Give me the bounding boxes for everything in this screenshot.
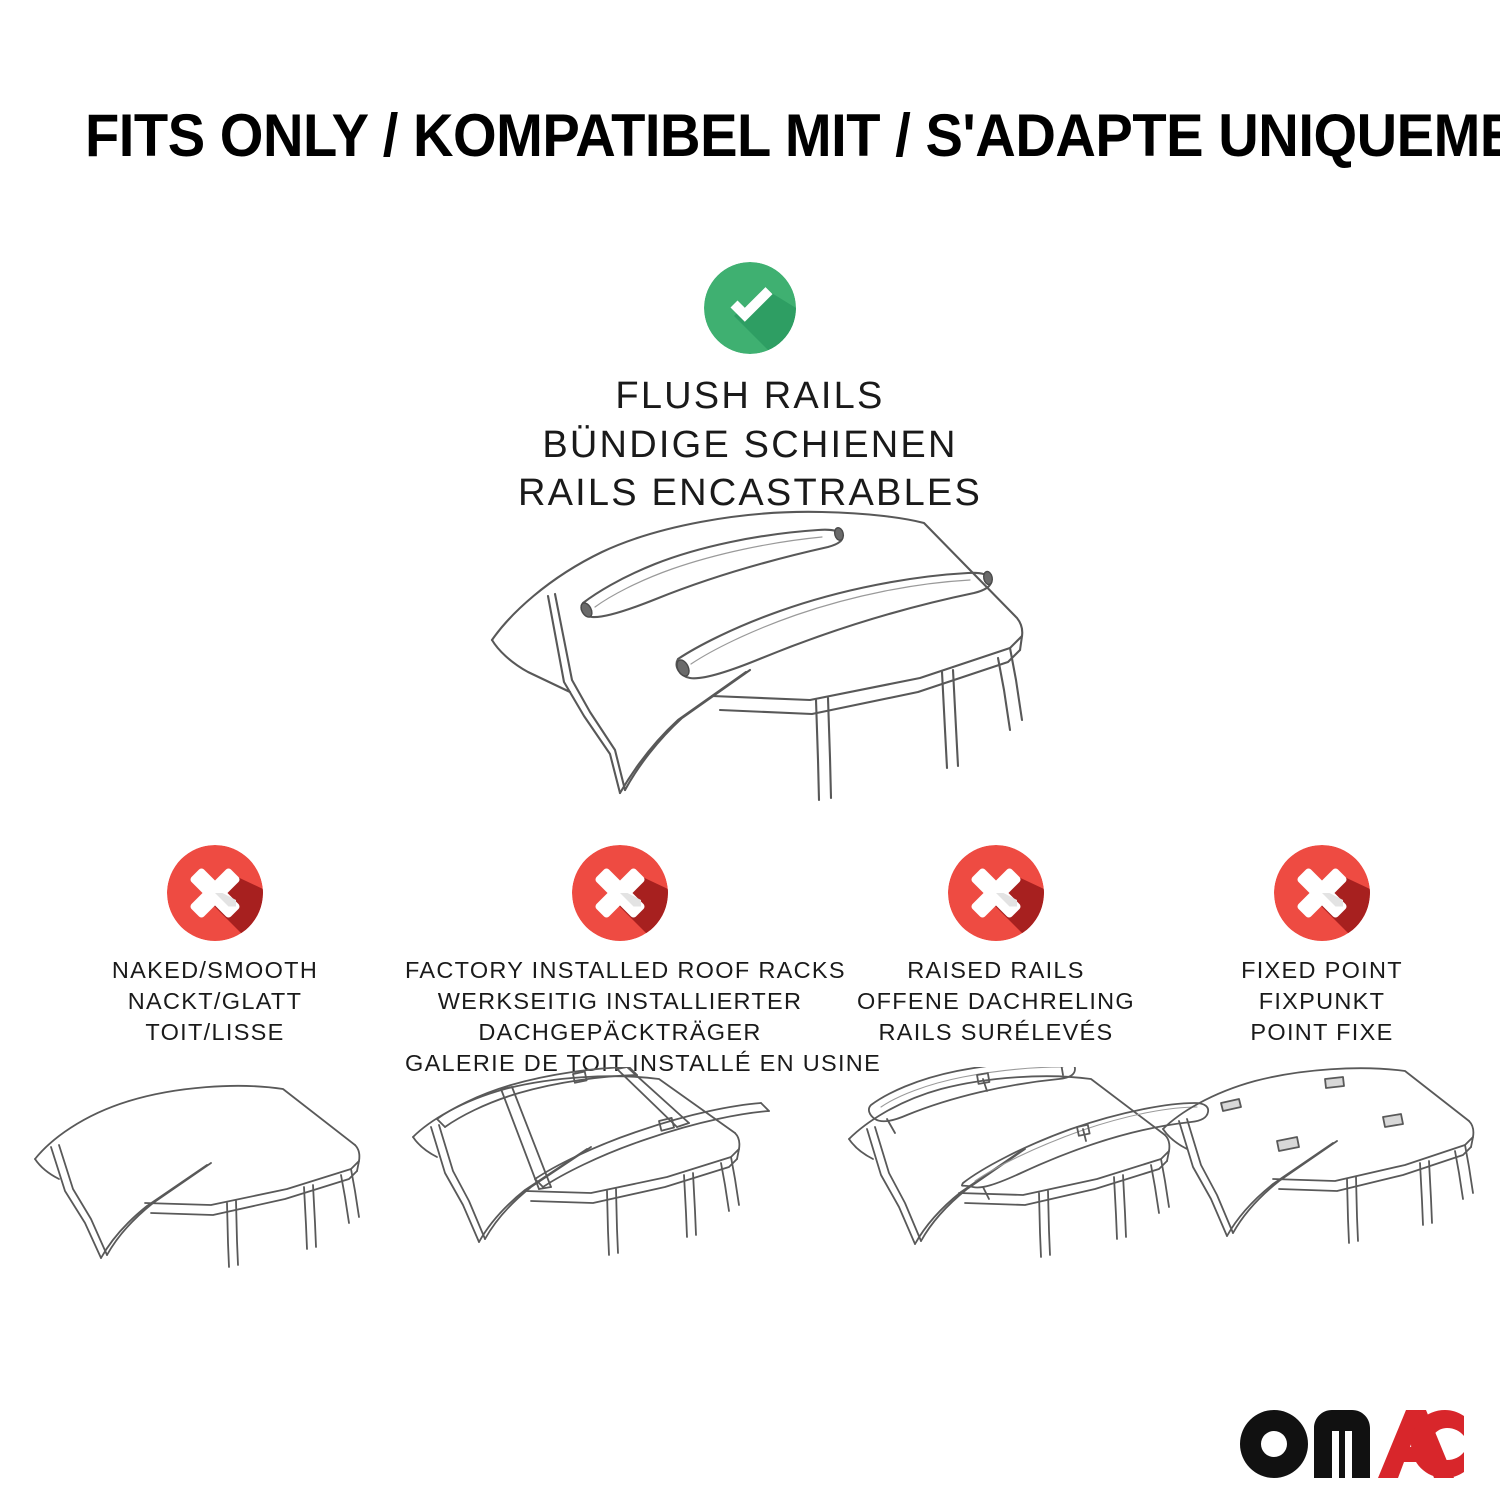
car-roof-fixed-point-illustration: [1157, 1067, 1497, 1297]
badge-wrap: [25, 845, 405, 955]
badge-wrap: [1157, 845, 1487, 955]
option-label-de-2: DACHGEPÄCKTRÄGER: [405, 1017, 835, 1048]
compatible-label-de: BÜNDIGE SCHIENEN: [0, 421, 1500, 470]
option-label-group: FIXED POINT FIXPUNKT POINT FIXE: [1157, 955, 1487, 1048]
option-label-group: RAISED RAILS OFFENE DACHRELING RAILS SUR…: [835, 955, 1157, 1048]
option-naked-smooth: NAKED/SMOOTH NACKT/GLATT TOIT/LISSE: [25, 845, 405, 1048]
car-roof-factory-racks-illustration: [405, 1067, 805, 1297]
option-label-de-1: WERKSEITIG INSTALLIERTER: [405, 986, 835, 1017]
option-label-de: FIXPUNKT: [1157, 986, 1487, 1017]
badge-wrap: [405, 845, 835, 955]
option-label-fr: RAILS SURÉLEVÉS: [835, 1017, 1157, 1048]
option-label-en: NAKED/SMOOTH: [25, 955, 405, 986]
option-raised-rails: RAISED RAILS OFFENE DACHRELING RAILS SUR…: [835, 845, 1157, 1048]
option-label-en: FIXED POINT: [1157, 955, 1487, 986]
option-label-de: NACKT/GLATT: [25, 986, 405, 1017]
cross-circle-icon: [167, 845, 263, 941]
incompatible-options: NAKED/SMOOTH NACKT/GLATT TOIT/LISSE: [0, 845, 1500, 1325]
option-label-fr: TOIT/LISSE: [25, 1017, 405, 1048]
check-circle-icon: [704, 262, 796, 354]
logo-letter-m: [1314, 1410, 1370, 1478]
compatible-label-en: FLUSH RAILS: [0, 372, 1500, 421]
option-label-de: OFFENE DACHRELING: [835, 986, 1157, 1017]
cross-circle-icon: [572, 845, 668, 941]
car-roof-naked-illustration: [25, 1067, 405, 1297]
badge-wrap: [835, 845, 1157, 955]
car-roof-flush-rails-illustration: [450, 490, 1070, 810]
compatible-section: FLUSH RAILS BÜNDIGE SCHIENEN RAILS ENCAS…: [0, 262, 1500, 518]
option-label-en: FACTORY INSTALLED ROOF RACKS: [405, 955, 835, 986]
option-label-group: FACTORY INSTALLED ROOF RACKS WERKSEITIG …: [405, 955, 835, 1079]
option-factory-installed-roof-racks: FACTORY INSTALLED ROOF RACKS WERKSEITIG …: [405, 845, 835, 1079]
logo-letter-o: [1240, 1410, 1308, 1478]
option-label-en: RAISED RAILS: [835, 955, 1157, 986]
cross-circle-icon: [948, 845, 1044, 941]
option-label-group: NAKED/SMOOTH NACKT/GLATT TOIT/LISSE: [25, 955, 405, 1048]
option-fixed-point: FIXED POINT FIXPUNKT POINT FIXE: [1157, 845, 1487, 1048]
page-title: FITS ONLY / KOMPATIBEL MIT / S'ADAPTE UN…: [85, 106, 1338, 166]
cross-circle-icon: [1274, 845, 1370, 941]
option-label-fr: POINT FIXE: [1157, 1017, 1487, 1048]
omac-logo: [1240, 1410, 1472, 1478]
